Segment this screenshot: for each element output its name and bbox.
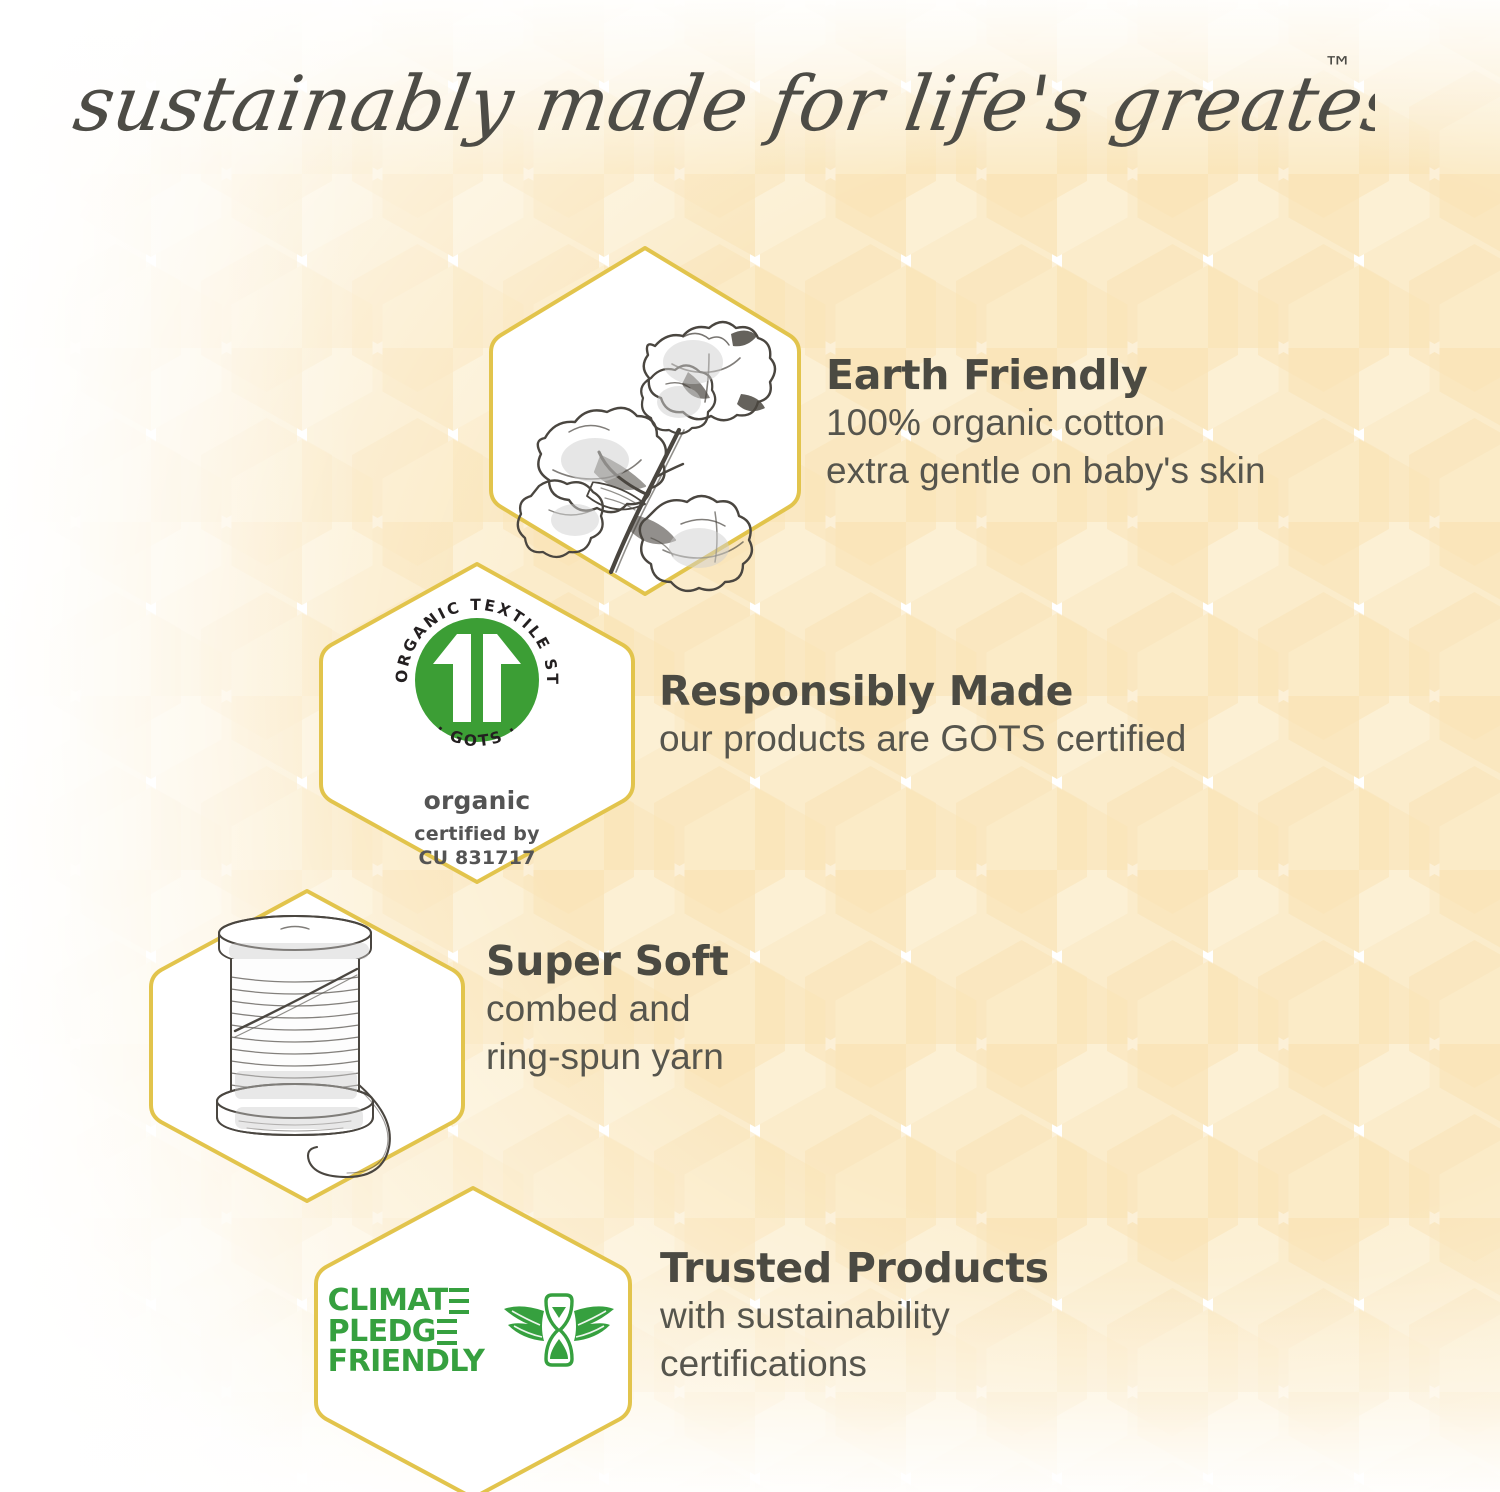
tagline-script-text: sustainably made for life's greatest joy… xyxy=(55,42,1375,162)
feature-subline-1: 100% organic cotton xyxy=(826,399,1266,446)
infographic-canvas: sustainably made for life's greatest joy… xyxy=(0,0,1500,1492)
climate-pledge-friendly-logo: CLIMAT PLEDG FRIENDLY xyxy=(328,1286,619,1379)
feature-subline-2: extra gentle on baby's skin xyxy=(826,447,1266,494)
feature-subline-1: our products are GOTS certified xyxy=(659,715,1186,762)
gots-green-circle xyxy=(415,618,539,742)
feature-subline-1: combed and xyxy=(486,985,729,1032)
feature-subline-1: with sustainability xyxy=(660,1292,1049,1339)
feature-text-super-soft: Super Soft combed and ring-spun yarn xyxy=(486,938,729,1080)
feature-card-trusted-products[interactable]: CLIMAT PLEDG FRIENDLY xyxy=(308,1182,638,1492)
feature-title-earth-friendly: Earth Friendly xyxy=(826,352,1266,399)
feature-subline-2: ring-spun yarn xyxy=(486,1033,729,1080)
feature-card-super-soft[interactable] xyxy=(143,885,471,1207)
feature-subline-2: certifications xyxy=(660,1340,1049,1387)
feature-card-responsibly-made[interactable]: GLOBAL ORGANIC TEXTILE STANDARD · GOTS ·… xyxy=(313,558,641,888)
gots-seal-icon: GLOBAL ORGANIC TEXTILE STANDARD · GOTS · xyxy=(379,582,575,778)
trademark-symbol: ™ xyxy=(1323,51,1353,86)
cpf-pledge-text: PLEDG xyxy=(328,1317,436,1348)
feature-title-responsibly-made: Responsibly Made xyxy=(659,668,1186,715)
gots-certification-logo: GLOBAL ORGANIC TEXTILE STANDARD · GOTS ·… xyxy=(379,582,575,871)
feature-text-earth-friendly: Earth Friendly 100% organic cotton extra… xyxy=(826,352,1266,494)
feature-text-trusted-products: Trusted Products with sustainability cer… xyxy=(660,1245,1049,1387)
feature-title-super-soft: Super Soft xyxy=(486,938,729,985)
gots-certified-by-line: certified by xyxy=(414,823,539,845)
cpf-line-pledge: PLEDG xyxy=(328,1317,457,1348)
cpf-line-climate: CLIMAT xyxy=(328,1286,469,1317)
cpf-climate-text: CLIMAT xyxy=(328,1286,448,1317)
cpf-line-friendly: FRIENDLY xyxy=(328,1347,485,1378)
gots-certifier-code: CU 831717 xyxy=(418,847,535,869)
cpf-bars-e-icon xyxy=(449,1288,469,1314)
climate-pledge-wordmark: CLIMAT PLEDG FRIENDLY xyxy=(328,1286,485,1379)
tagline-banner: sustainably made for life's greatest joy… xyxy=(0,42,1430,162)
feature-title-trusted-products: Trusted Products xyxy=(660,1245,1049,1292)
gots-caption-organic: organic xyxy=(424,786,531,815)
hexagon-outline xyxy=(491,248,799,594)
tagline-label: sustainably made for life's greatest joy xyxy=(68,60,1375,148)
cpf-friendly-text: FRIENDLY xyxy=(328,1347,485,1378)
feature-text-responsibly-made: Responsibly Made our products are GOTS c… xyxy=(659,668,1186,763)
feature-card-earth-friendly[interactable] xyxy=(483,242,807,600)
winged-hourglass-icon xyxy=(500,1289,618,1375)
gots-caption-certified-by: certified by CU 831717 xyxy=(414,822,539,871)
cpf-bars-e-icon xyxy=(437,1319,457,1345)
